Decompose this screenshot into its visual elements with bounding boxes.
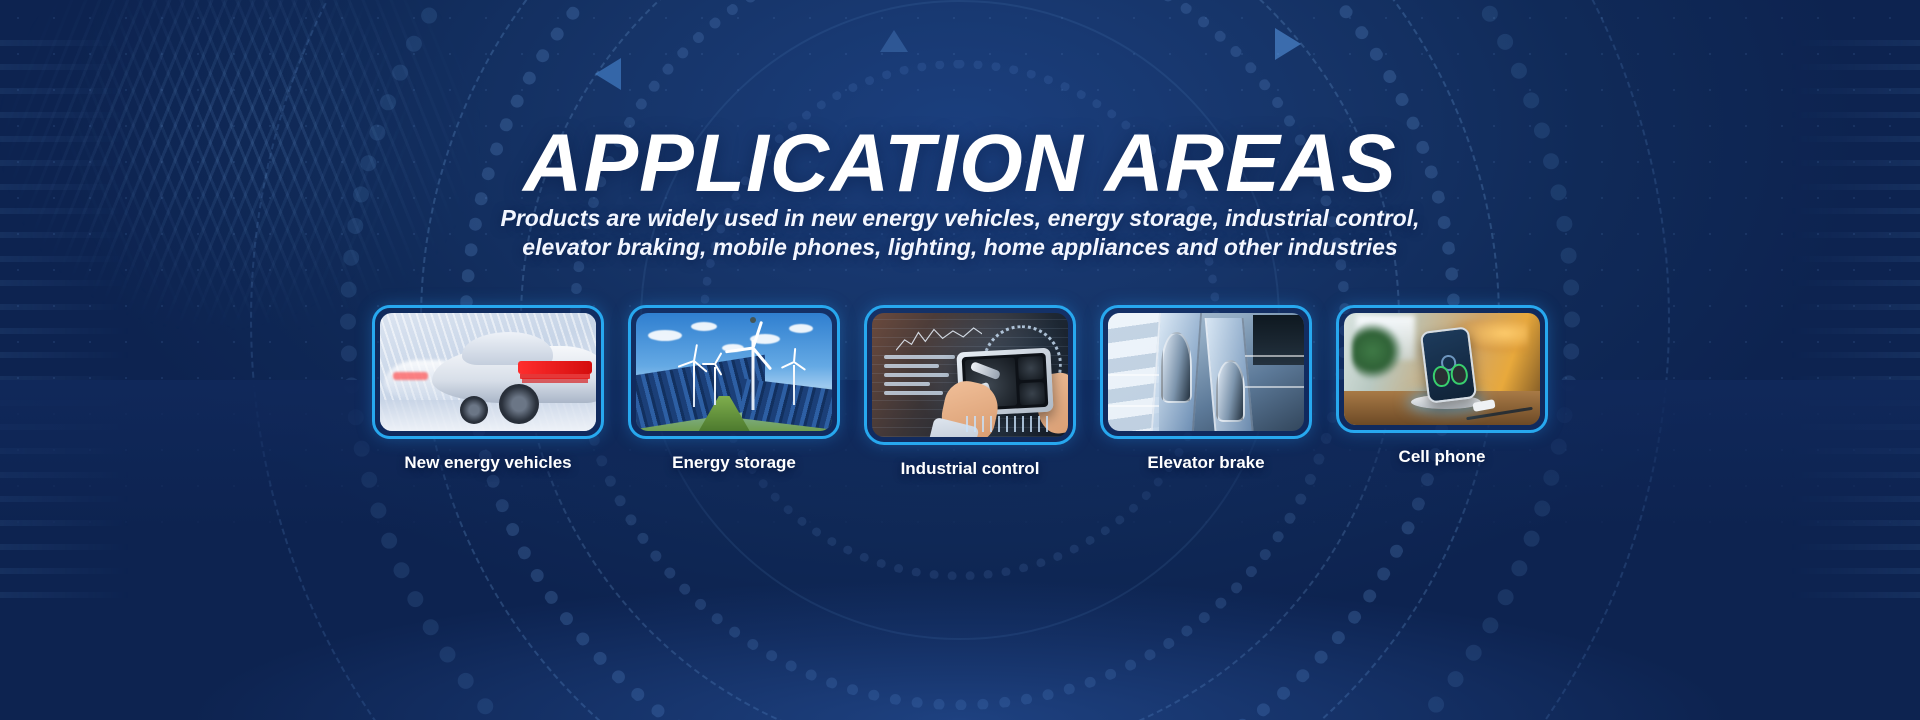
card-label-cell-phone: Cell phone [1399,447,1486,467]
card-label-new-energy-vehicles: New energy vehicles [404,453,571,473]
application-card-new-energy-vehicles[interactable]: New energy vehicles [372,305,604,473]
card-frame [864,305,1076,445]
solar-wind-image [636,313,832,431]
application-card-elevator-brake[interactable]: Elevator brake [1100,305,1312,473]
card-label-energy-storage: Energy storage [672,453,796,473]
card-thumbnail-cell-phone [1344,313,1540,425]
application-card-energy-storage[interactable]: Energy storage [628,305,840,473]
card-label-industrial-control: Industrial control [901,459,1040,479]
sports-car-image [380,313,596,431]
application-card-industrial-control[interactable]: Industrial control [864,305,1076,479]
page-subtitle: Products are widely used in new energy v… [0,204,1920,263]
phone-charger-image [1344,313,1540,425]
card-thumbnail-new-energy-vehicles [380,313,596,431]
card-label-elevator-brake: Elevator brake [1147,453,1264,473]
card-thumbnail-energy-storage [636,313,832,431]
banner-content: APPLICATION AREAS Products are widely us… [0,0,1920,720]
card-frame [372,305,604,439]
industrial-tablet-image [872,313,1068,437]
card-frame [628,305,840,439]
application-areas-banner: APPLICATION AREAS Products are widely us… [0,0,1920,720]
application-card-cell-phone[interactable]: Cell phone [1336,305,1548,467]
page-title: APPLICATION AREAS [0,117,1920,211]
card-thumbnail-elevator-brake [1108,313,1304,431]
card-frame [1100,305,1312,439]
application-card-list: New energy vehicles [0,305,1920,479]
card-thumbnail-industrial-control [872,313,1068,437]
card-frame [1336,305,1548,433]
elevator-shaft-image [1108,313,1304,431]
subtitle-line-2: elevator braking, mobile phones, lightin… [0,233,1920,262]
subtitle-line-1: Products are widely used in new energy v… [0,204,1920,233]
